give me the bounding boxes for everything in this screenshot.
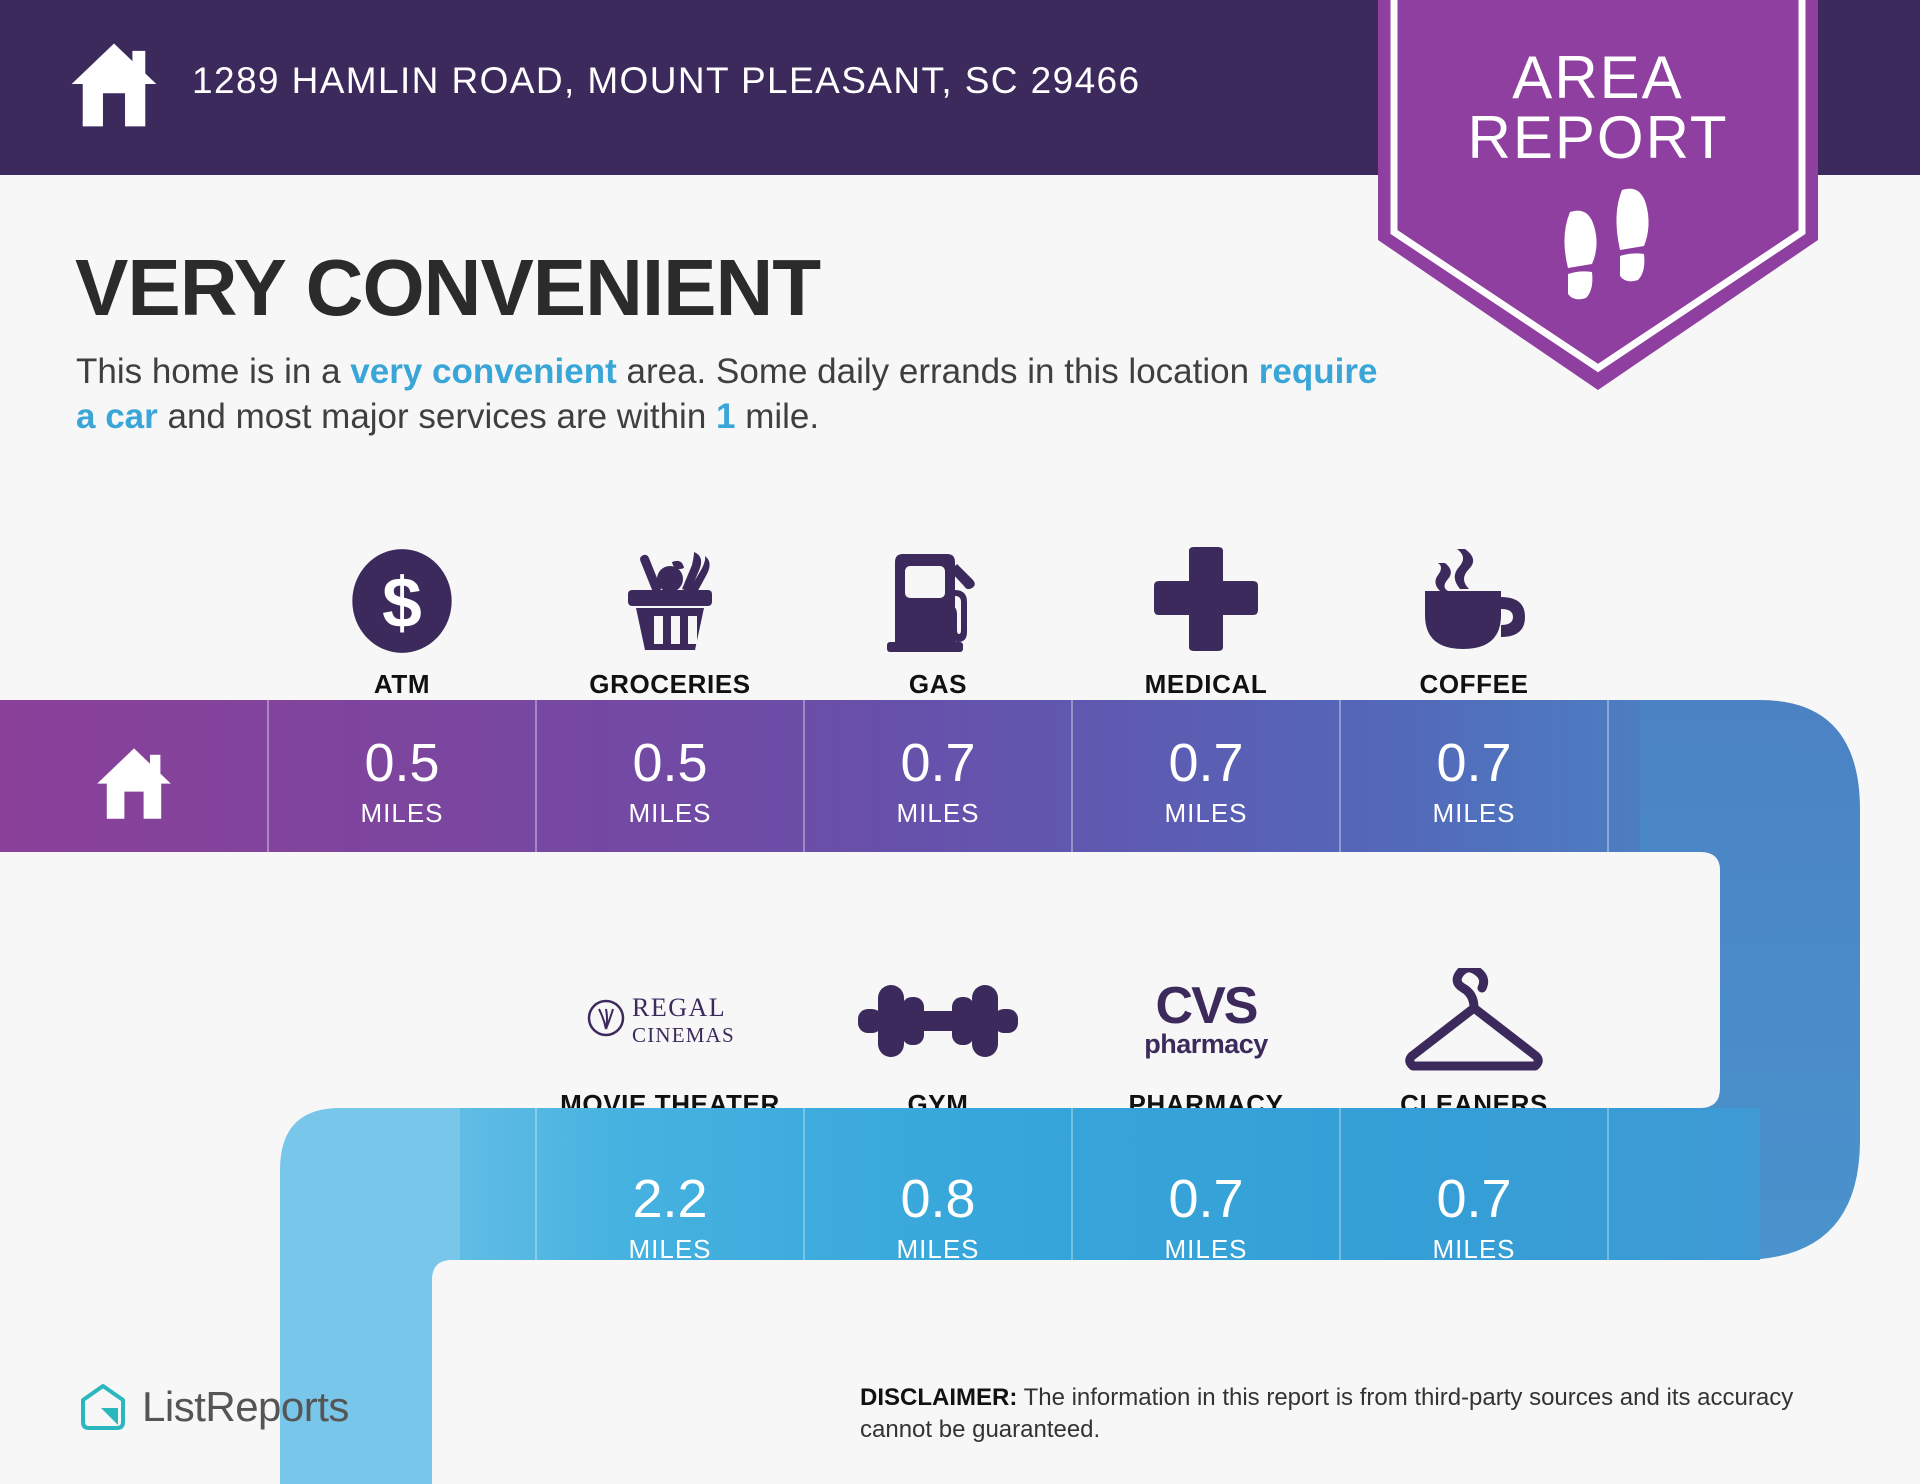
category-label: GROCERIES (589, 669, 750, 700)
distance-row-1: 0.5 MILES 0.5 MILES 0.7 MILES 0.7 MILES … (0, 712, 1920, 852)
category-atm: $ ATM (268, 520, 536, 700)
distance-cell-groceries: 0.5 MILES (536, 712, 804, 852)
gas-pump-icon (883, 541, 993, 661)
distance-cell-atm: 0.5 MILES (268, 712, 536, 852)
summary-part-1: This home is in a (76, 352, 350, 391)
summary-highlight-3: 1 (716, 397, 735, 436)
home-icon (93, 742, 175, 822)
home-icon (68, 38, 160, 130)
distance-value: 0.7 (1436, 1172, 1511, 1226)
category-gas: GAS (804, 520, 1072, 700)
distance-unit: MILES (1432, 1234, 1515, 1265)
dollar-circle-icon: $ (348, 541, 456, 661)
listreports-house-icon (78, 1382, 128, 1432)
distance-unit: MILES (628, 798, 711, 829)
page-title: VERY CONVENIENT (75, 242, 820, 334)
disclaimer: DISCLAIMER: The information in this repo… (860, 1382, 1850, 1447)
distance-cell-movie-theater: 2.2 MILES (536, 1148, 804, 1288)
category-label: GAS (909, 669, 967, 700)
area-report-ribbon: AREA REPORT (1378, 0, 1818, 410)
distance-unit: MILES (1164, 798, 1247, 829)
distance-value: 0.7 (1168, 1172, 1243, 1226)
distance-cell-coffee: 0.7 MILES (1340, 712, 1608, 852)
distance-value: 0.5 (632, 736, 707, 790)
ribbon-line-2: REPORT (1468, 104, 1729, 171)
category-groceries: GROCERIES (536, 520, 804, 700)
distance-value: 0.7 (1168, 736, 1243, 790)
ribbon-line-1: AREA (1512, 44, 1683, 111)
summary-text: This home is in a very convenient area. … (76, 350, 1386, 440)
coffee-cup-icon (1415, 541, 1533, 661)
distance-cell-cleaners: 0.7 MILES (1340, 1148, 1608, 1288)
summary-part-3: and most major services are within (158, 397, 716, 436)
distance-unit: MILES (896, 798, 979, 829)
category-label: COFFEE (1419, 669, 1528, 700)
listreports-logo: ListReports (78, 1382, 349, 1432)
summary-part-2: area. Some daily errands in this locatio… (617, 352, 1259, 391)
category-coffee: COFFEE (1340, 520, 1608, 700)
distance-unit: MILES (1432, 798, 1515, 829)
home-marker (0, 712, 268, 852)
listreports-logo-text: ListReports (142, 1383, 349, 1431)
summary-highlight-1: very convenient (350, 352, 617, 391)
distance-cell-medical: 0.7 MILES (1072, 712, 1340, 852)
distance-cell-gym: 0.8 MILES (804, 1148, 1072, 1288)
distance-unit: MILES (1164, 1234, 1247, 1265)
distance-unit: MILES (360, 798, 443, 829)
distance-value: 0.5 (364, 736, 439, 790)
summary-part-4: mile. (735, 397, 819, 436)
distance-value: 0.7 (900, 736, 975, 790)
distance-row-2: 2.2 MILES 0.8 MILES 0.7 MILES 0.7 MILES (0, 1148, 1920, 1288)
svg-text:$: $ (382, 563, 422, 643)
disclaimer-label: DISCLAIMER: (860, 1384, 1017, 1411)
category-label: ATM (374, 669, 430, 700)
distance-value: 0.7 (1436, 736, 1511, 790)
distance-cell-pharmacy: 0.7 MILES (1072, 1148, 1340, 1288)
distance-value: 0.8 (900, 1172, 975, 1226)
distance-unit: MILES (628, 1234, 711, 1265)
distance-unit: MILES (896, 1234, 979, 1265)
property-address: 1289 HAMLIN ROAD, MOUNT PLEASANT, SC 294… (192, 60, 1141, 102)
medical-cross-icon (1151, 541, 1261, 661)
grocery-basket-icon (610, 541, 730, 661)
category-medical: MEDICAL (1072, 520, 1340, 700)
category-icons-row-1: $ ATM GROCERIES (0, 520, 1920, 700)
distance-value: 2.2 (632, 1172, 707, 1226)
distance-cell-gas: 0.7 MILES (804, 712, 1072, 852)
category-label: MEDICAL (1145, 669, 1268, 700)
